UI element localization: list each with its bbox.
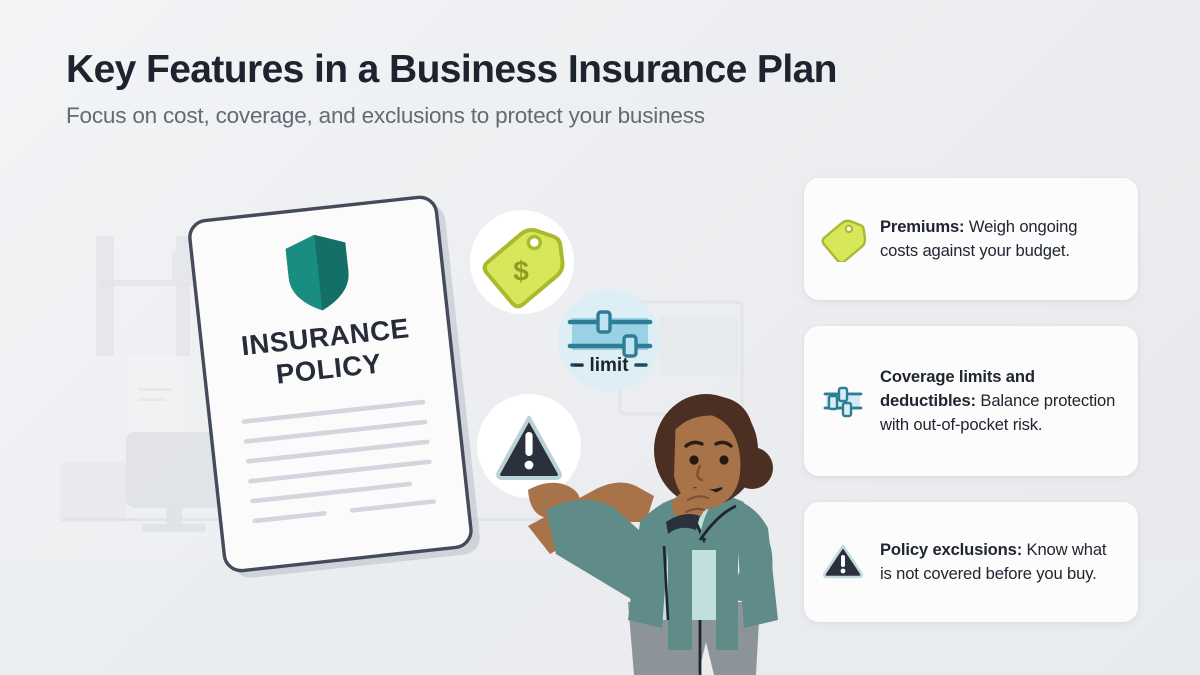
badge-coverage-limit[interactable]: – limit – [558, 289, 660, 391]
feature-card-coverage-limits[interactable]: Coverage limits and deductibles: Balance… [804, 326, 1138, 476]
badge-limit-label: – limit – [574, 355, 645, 376]
feature-card-text: Coverage limits and deductibles: Balance… [880, 365, 1119, 437]
feature-card-premiums[interactable]: Premiums: Weigh ongoing costs against yo… [804, 178, 1138, 300]
header: Key Features in a Business Insurance Pla… [66, 48, 966, 129]
feature-card-title: Policy exclusions: [880, 540, 1022, 559]
insurance-policy-document: INSURANCE POLICY [188, 195, 481, 581]
svg-text:$: $ [513, 255, 529, 286]
feature-card-list: Premiums: Weigh ongoing costs against yo… [804, 178, 1138, 622]
warning-triangle-icon [820, 539, 866, 585]
sliders-icon [820, 378, 866, 424]
feature-card-text: Policy exclusions: Know what is not cove… [880, 538, 1119, 586]
badge-premiums[interactable]: $ [470, 210, 575, 314]
infographic-canvas: Key Features in a Business Insurance Pla… [0, 0, 1200, 675]
badge-policy-exclusions[interactable] [477, 394, 581, 498]
page-title: Key Features in a Business Insurance Pla… [66, 48, 966, 92]
sliders-icon [570, 312, 650, 356]
page-subtitle: Focus on cost, coverage, and exclusions … [66, 103, 966, 129]
badge-limit-label-group: – limit – [572, 355, 646, 376]
feature-card-text: Premiums: Weigh ongoing costs against yo… [880, 215, 1119, 263]
feature-card-title: Premiums: [880, 217, 964, 236]
price-tag-icon [820, 216, 866, 262]
feature-card-policy-exclusions[interactable]: Policy exclusions: Know what is not cove… [804, 502, 1138, 622]
hero-illustration: INSURANCE POLICY [0, 150, 800, 675]
